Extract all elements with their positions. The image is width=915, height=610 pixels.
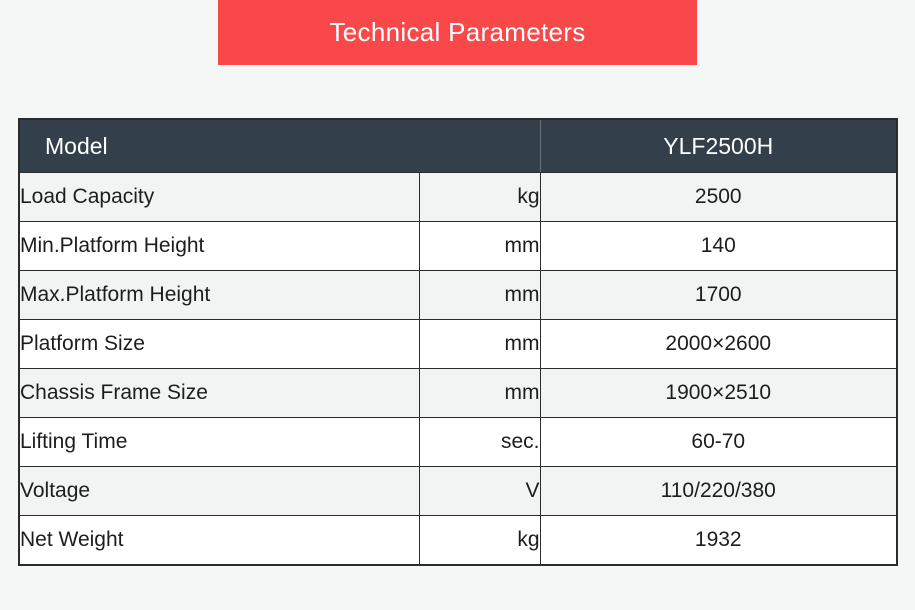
table-body: Model YLF2500H Load Capacitykg2500Min.Pl… [19,119,897,565]
cell-parameter-unit: mm [419,222,540,271]
cell-parameter-label: Chassis Frame Size [19,369,419,418]
cell-parameter-label: Max.Platform Height [19,271,419,320]
cell-parameter-unit: mm [419,271,540,320]
header-cell-model: Model [19,119,419,173]
table-header-row: Model YLF2500H [19,119,897,173]
cell-parameter-unit: kg [419,173,540,222]
table-row: Net Weightkg1932 [19,516,897,566]
cell-parameter-unit: V [419,467,540,516]
cell-parameter-unit: sec. [419,418,540,467]
technical-parameters-table: Model YLF2500H Load Capacitykg2500Min.Pl… [18,118,898,566]
banner-technical-parameters: Technical Parameters [218,0,697,65]
cell-parameter-value: 1700 [540,271,897,320]
header-cell-model-value: YLF2500H [540,119,897,173]
table-row: Lifting Timesec.60-70 [19,418,897,467]
cell-parameter-unit: kg [419,516,540,566]
table-row: Load Capacitykg2500 [19,173,897,222]
table-row: Min.Platform Heightmm140 [19,222,897,271]
table-row: Max.Platform Heightmm1700 [19,271,897,320]
cell-parameter-unit: mm [419,320,540,369]
table-row: Chassis Frame Sizemm1900×2510 [19,369,897,418]
cell-parameter-label: Net Weight [19,516,419,566]
cell-parameter-label: Lifting Time [19,418,419,467]
cell-parameter-value: 60-70 [540,418,897,467]
cell-parameter-value: 2500 [540,173,897,222]
cell-parameter-value: 2000×2600 [540,320,897,369]
banner-title: Technical Parameters [330,17,586,48]
table-row: VoltageV110/220/380 [19,467,897,516]
table-row: Platform Sizemm2000×2600 [19,320,897,369]
cell-parameter-label: Min.Platform Height [19,222,419,271]
header-cell-unit [419,119,540,173]
cell-parameter-value: 1932 [540,516,897,566]
cell-parameter-label: Platform Size [19,320,419,369]
cell-parameter-value: 110/220/380 [540,467,897,516]
cell-parameter-value: 140 [540,222,897,271]
cell-parameter-unit: mm [419,369,540,418]
cell-parameter-value: 1900×2510 [540,369,897,418]
cell-parameter-label: Load Capacity [19,173,419,222]
cell-parameter-label: Voltage [19,467,419,516]
